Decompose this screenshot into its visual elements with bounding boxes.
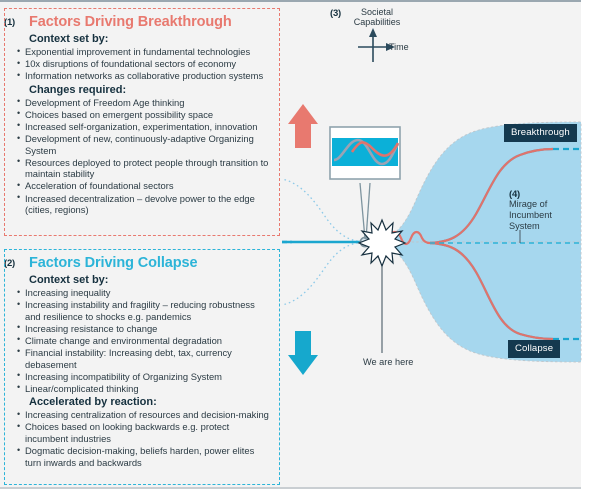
up-arrow-icon (288, 104, 318, 148)
panel-title-collapse: Factors Driving Collapse (29, 255, 273, 271)
down-arrow-icon (288, 331, 318, 375)
panel-factors-driving-collapse: Factors Driving Collapse Context set by:… (4, 249, 280, 485)
list-item: Increasing resistance to change (17, 323, 273, 335)
tag-collapse: Collapse (508, 340, 560, 358)
list-item: Climate change and environmental degrada… (17, 335, 273, 347)
left-dotted-upper (282, 179, 367, 242)
label-mirage-of-incumbent-system: Mirage of Incumbent System (509, 199, 571, 232)
panel-number-3: (3) (330, 8, 341, 19)
list-item: Increasing instability and fragility – r… (17, 299, 273, 322)
burst-icon (359, 220, 405, 266)
collapse-list-0: Increasing inequality Increasing instabi… (13, 287, 273, 394)
list-item: Increasing incompatibility of Organizing… (17, 371, 273, 383)
breakthrough-list-0: Exponential improvement in fundamental t… (13, 46, 273, 82)
collapse-list-1: Increasing centralization of resources a… (13, 409, 273, 468)
label-we-are-here: We are here (363, 357, 413, 368)
list-item: Exponential improvement in fundamental t… (17, 46, 273, 58)
list-item: Increased decentralization – devolve pow… (17, 193, 273, 216)
left-dotted-lower (282, 242, 367, 305)
collapse-section-heading-1: Accelerated by reaction: (29, 396, 273, 408)
list-item: Choices based on emergent possibility sp… (17, 109, 273, 121)
list-item: 10x disruptions of foundational sectors … (17, 58, 273, 70)
tag-breakthrough: Breakthrough (504, 124, 577, 142)
list-item: Development of new, continuously-adaptiv… (17, 133, 273, 156)
breakthrough-list-1: Development of Freedom Age thinking Choi… (13, 97, 273, 216)
list-item: Development of Freedom Age thinking (17, 97, 273, 109)
list-item: Linear/complicated thinking (17, 383, 273, 395)
list-item: Increased self-organization, experimenta… (17, 121, 273, 133)
axis-label-x: Time (389, 42, 409, 52)
axis-label-y: Societal Capabilities (344, 7, 410, 27)
list-item: Acceleration of foundational sectors (17, 180, 273, 192)
diagram-canvas: (1) Factors Driving Breakthrough Context… (0, 0, 609, 492)
list-item: Information networks as collaborative pr… (17, 70, 273, 82)
list-item: Increasing inequality (17, 287, 273, 299)
list-item: Dogmatic decision-making, beliefs harden… (17, 445, 273, 468)
panel-factors-driving-breakthrough: Factors Driving Breakthrough Context set… (4, 8, 280, 236)
breakthrough-section-heading-1: Changes required: (29, 84, 273, 96)
list-item: Resources deployed to protect people thr… (17, 157, 273, 180)
panel-title-breakthrough: Factors Driving Breakthrough (29, 14, 273, 30)
list-item: Increasing centralization of resources a… (17, 409, 273, 421)
collapse-section-heading-0: Context set by: (29, 274, 273, 286)
breakthrough-section-heading-0: Context set by: (29, 33, 273, 45)
inset-chart-icon (330, 127, 400, 239)
list-item: Choices based on looking backwards e.g. … (17, 421, 273, 444)
list-item: Financial instability: Increasing debt, … (17, 347, 273, 370)
